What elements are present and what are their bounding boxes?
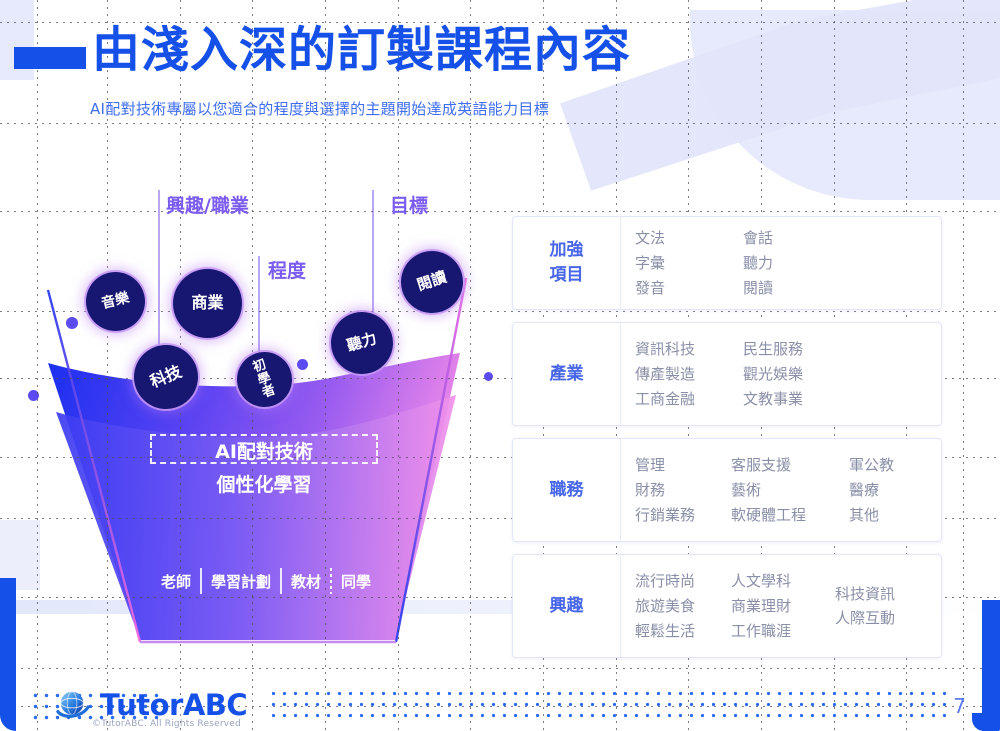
- personalized-learning-label: 個性化學習: [150, 470, 378, 497]
- panel-column: 客服支援 藝術 軟硬體工程: [731, 456, 849, 524]
- panel-item: 客服支援: [731, 456, 849, 475]
- panel-item: 藝術: [731, 481, 849, 500]
- panel-item: 旅遊美食: [635, 597, 731, 616]
- slide-canvas: 由淺入深的訂製課程內容 AI配對技術專屬以您適合的程度與選擇的主題開始達成英語能…: [0, 0, 1000, 731]
- panel-column: 軍公教 醫療 其他: [849, 456, 909, 524]
- decorative-dot: [484, 372, 493, 381]
- panel-item: 字彙: [635, 254, 743, 273]
- panel-item: 輕鬆生活: [635, 622, 731, 641]
- panel-columns: 管理 財務 行銷業務 客服支援 藝術 軟硬體工程 軍公教 醫療 其他: [621, 439, 941, 541]
- bubble-label: 初學者: [247, 357, 282, 403]
- panel-label: 職務: [513, 439, 621, 541]
- panel-item: 財務: [635, 481, 731, 500]
- panel-item: 其他: [849, 506, 909, 525]
- panel-item: 資訊科技: [635, 340, 743, 359]
- decorative-dot: [297, 359, 308, 370]
- bubble-business[interactable]: 商業: [173, 269, 242, 338]
- accent-bar-left: [0, 578, 16, 731]
- panel-column: 資訊科技 傳產製造 工商金融: [635, 340, 743, 408]
- panel-item: 民生服務: [743, 340, 851, 359]
- decorative-dot: [66, 317, 78, 329]
- panel-item: 傳產製造: [635, 365, 743, 384]
- panel-column: 會話 聽力 閱讀: [743, 229, 851, 297]
- panel-label: 興趣: [513, 555, 621, 657]
- panel-item: 發音: [635, 279, 743, 298]
- base-item-study-plan: 學習計劃: [202, 571, 280, 592]
- panel-label-line: 項目: [550, 263, 584, 288]
- panel-item: 科技資訊: [835, 585, 909, 604]
- panel-label-line: 加強: [550, 238, 584, 263]
- page-title: 由淺入深的訂製課程內容: [92, 24, 631, 78]
- panel-column: 民生服務 觀光娛樂 文教事業: [743, 340, 851, 408]
- axis-label-level: 程度: [268, 256, 306, 283]
- ai-matching-label: AI配對技術: [150, 437, 378, 464]
- panel-columns: 文法 字彙 發音 會話 聽力 閱讀: [621, 217, 941, 309]
- panel-item: 醫療: [849, 481, 909, 500]
- brand-logo: TutorABC: [54, 688, 247, 722]
- bubble-label: 音樂: [100, 291, 131, 312]
- panel-item: 人文學科: [731, 572, 835, 591]
- panel-strengthen-items[interactable]: 加強 項目 文法 字彙 發音 會話 聽力 閱讀: [512, 216, 942, 310]
- panel-item: 閱讀: [743, 279, 851, 298]
- halftone-dots-right: [268, 688, 948, 724]
- panel-item: 聽力: [743, 254, 851, 273]
- panel-label: 加強 項目: [513, 217, 621, 309]
- page-number: 7: [953, 694, 966, 718]
- panel-column: 管理 財務 行銷業務: [635, 456, 731, 524]
- brand-name: TutorABC: [100, 688, 247, 722]
- panel-label: 產業: [513, 323, 621, 425]
- panel-interest[interactable]: 興趣 流行時尚 旅遊美食 輕鬆生活 人文學科 商業理財 工作職涯 科技資訊 人際…: [512, 554, 942, 658]
- funnel-base-items: 老師 學習計劃 教材 同學: [130, 568, 402, 594]
- accent-bar-right: [982, 600, 1000, 731]
- bubble-label: 商業: [191, 295, 223, 312]
- panel-item: 軟硬體工程: [731, 506, 849, 525]
- copyright-text: ©TutorABC. All Rights Reserved: [92, 719, 241, 729]
- panel-item: 商業理財: [731, 597, 835, 616]
- bubble-label: 閱讀: [415, 270, 448, 294]
- panel-item: 行銷業務: [635, 506, 731, 525]
- panel-industry[interactable]: 產業 資訊科技 傳產製造 工商金融 民生服務 觀光娛樂 文教事業: [512, 322, 942, 426]
- panel-item: 管理: [635, 456, 731, 475]
- panel-columns: 資訊科技 傳產製造 工商金融 民生服務 觀光娛樂 文教事業: [621, 323, 941, 425]
- panel-column: 流行時尚 旅遊美食 輕鬆生活: [635, 572, 731, 640]
- panel-item: 工商金融: [635, 390, 743, 409]
- bubble-label: 聽力: [345, 331, 378, 354]
- bubble-label: 科技: [148, 363, 184, 391]
- panel-column: 人文學科 商業理財 工作職涯: [731, 572, 835, 640]
- panel-item: 流行時尚: [635, 572, 731, 591]
- panel-item: 會話: [743, 229, 851, 248]
- base-item-classmates: 同學: [332, 571, 380, 592]
- base-item-materials: 教材: [282, 571, 330, 592]
- base-item-teacher: 老師: [152, 571, 200, 592]
- panel-item: 文教事業: [743, 390, 851, 409]
- title-accent-bar: [14, 47, 86, 69]
- panel-item: 軍公教: [849, 456, 909, 475]
- axis-label-goal: 目標: [390, 191, 428, 218]
- panel-item: 工作職涯: [731, 622, 835, 641]
- panel-column: 文法 字彙 發音: [635, 229, 743, 297]
- panel-item: 人際互動: [835, 609, 909, 628]
- panel-item: 觀光娛樂: [743, 365, 851, 384]
- category-panels: 加強 項目 文法 字彙 發音 會話 聽力 閱讀 產業: [512, 216, 942, 670]
- page-subtitle: AI配對技術專屬以您適合的程度與選擇的主題開始達成英語能力目標: [90, 98, 549, 119]
- panel-column: 科技資訊 人際互動: [835, 585, 909, 629]
- panel-columns: 流行時尚 旅遊美食 輕鬆生活 人文學科 商業理財 工作職涯 科技資訊 人際互動: [621, 555, 941, 657]
- globe-icon: [54, 688, 92, 722]
- panel-item: 文法: [635, 229, 743, 248]
- panel-job-role[interactable]: 職務 管理 財務 行銷業務 客服支援 藝術 軟硬體工程 軍公教 醫療 其他: [512, 438, 942, 542]
- axis-label-interest: 興趣/職業: [166, 191, 249, 218]
